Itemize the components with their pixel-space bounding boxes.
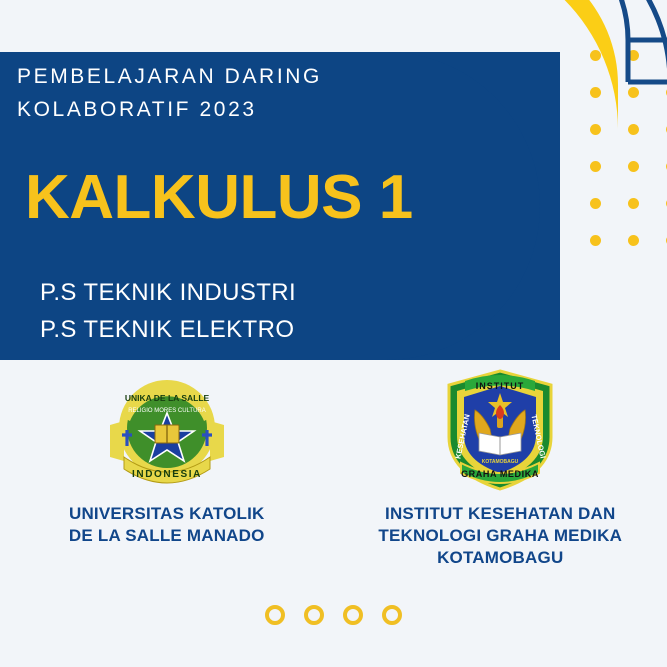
dot-grid-dot [628,87,639,98]
institut-kesehatan-teknologi-graha-medika-logo: INSTITUT KESEHATAN TEKNOLOGI KOTAMOBAGU … [435,365,565,495]
institution-item: UNIKA DE LA SALLE RELIGIO MORES CULTURA … [0,365,334,569]
dot-grid-dot [628,124,639,135]
pagination-dot[interactable] [343,605,363,625]
dot-grid-dot [590,235,601,246]
institution-caption: UNIVERSITAS KATOLIK DE LA SALLE MANADO [69,503,265,547]
dot-grid-dot [590,124,601,135]
unika-de-la-salle-manado-logo: UNIKA DE LA SALLE RELIGIO MORES CULTURA … [102,365,232,495]
crest-banner-text: INDONESIA [132,469,202,480]
dot-grid-decoration [590,50,667,272]
pagination-dot[interactable] [382,605,402,625]
hero-text-block: PEMBELAJARAN DARING KOLABORATIF 2023 KAL… [0,52,560,360]
program-list: P.S TEKNIK INDUSTRI P.S TEKNIK ELEKTRO [40,274,296,348]
dot-grid-dot [628,161,639,172]
poster-kicker: PEMBELAJARAN DARING KOLABORATIF 2023 [17,60,322,126]
institution-caption: INSTITUT KESEHATAN DAN TEKNOLOGI GRAHA M… [378,503,622,569]
pagination-dots[interactable] [0,605,667,625]
institution-item: INSTITUT KESEHATAN TEKNOLOGI KOTAMOBAGU … [334,365,667,569]
pagination-dot[interactable] [304,605,324,625]
dot-grid-dot [590,161,601,172]
dot-grid-dot [590,50,601,61]
dot-grid-dot [628,50,639,61]
dot-grid-dot [590,87,601,98]
dot-grid-dot [590,198,601,209]
poster-canvas: PEMBELAJARAN DARING KOLABORATIF 2023 KAL… [0,0,667,667]
navy-arc-inner [500,0,628,40]
crest-ribbon-left [110,421,124,461]
page-title: KALKULUS 1 [25,167,413,229]
shield-text-small: KOTAMOBAGU [482,459,519,465]
dot-grid-dot [628,235,639,246]
pagination-dot[interactable] [265,605,285,625]
crest-ring-text-top: UNIKA DE LA SALLE [125,393,210,403]
institution-logos-row: UNIKA DE LA SALLE RELIGIO MORES CULTURA … [0,365,667,569]
shield-text-top: INSTITUT [476,381,525,391]
crest-ribbon-right [210,421,224,461]
dot-grid-dot [628,198,639,209]
shield-banner-text: GRAHA MEDIKA [461,469,539,479]
